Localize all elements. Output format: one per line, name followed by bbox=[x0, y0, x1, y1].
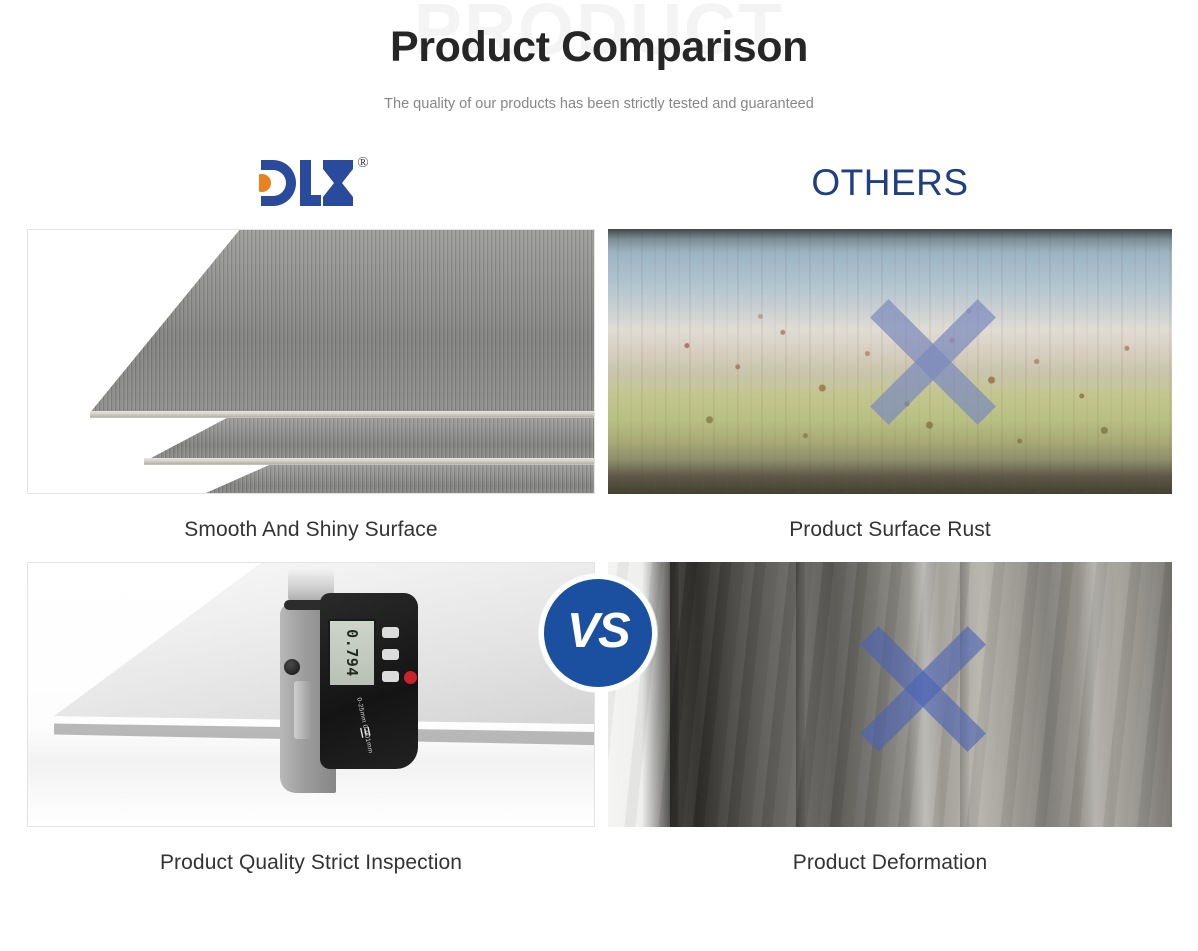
steel-photo-stage bbox=[28, 230, 594, 493]
caption-theirs: Product Deformation bbox=[608, 851, 1172, 875]
micrometer-reading: 0.794 bbox=[343, 629, 361, 677]
micrometer-button-onoff[interactable] bbox=[382, 627, 399, 638]
comparison-cell-theirs: Product Deformation bbox=[608, 562, 1172, 875]
comparison-cell-ours: Smooth And Shiny Surface bbox=[27, 229, 595, 542]
steel-sheet-bottom bbox=[193, 465, 595, 494]
micrometer-button-zero[interactable] bbox=[382, 671, 399, 682]
steel-sheet-middle bbox=[144, 418, 595, 462]
others-label: OTHERS bbox=[811, 162, 968, 204]
deform-highlight-2 bbox=[1078, 562, 1112, 827]
product-comparison-page: PRODUCT Product Comparison The quality o… bbox=[0, 0, 1198, 951]
caption-ours: Smooth And Shiny Surface bbox=[27, 518, 595, 542]
deform-seam-1 bbox=[670, 562, 679, 827]
vs-badge: VS bbox=[539, 574, 657, 692]
brand-row: ® OTHERS bbox=[0, 137, 1198, 229]
micrometer-brand-icon: 三 bbox=[350, 725, 377, 755]
comparison-grid: Smooth And Shiny Surface Product Surface… bbox=[0, 229, 1198, 895]
page-subtitle: The quality of our products has been str… bbox=[0, 96, 1198, 112]
comparison-row: Smooth And Shiny Surface Product Surface… bbox=[0, 229, 1198, 562]
deformed-metal-sheets-photo bbox=[608, 562, 1172, 827]
deform-seam-2 bbox=[796, 562, 805, 827]
dlx-logo: ® bbox=[253, 152, 368, 214]
brushed-stainless-steel-sheets-photo bbox=[27, 229, 595, 494]
micrometer-photo-stage: 0.794 0-25mm 0.001mm 三 bbox=[28, 563, 594, 826]
micrometer-thickness-measurement-photo: 0.794 0-25mm 0.001mm 三 bbox=[27, 562, 595, 827]
micrometer-head: 0.794 0-25mm 0.001mm 三 bbox=[320, 593, 418, 769]
others-brand-cell: OTHERS bbox=[608, 137, 1172, 229]
micrometer-button-unit[interactable] bbox=[382, 649, 399, 660]
caption-ours: Product Quality Strict Inspection bbox=[27, 851, 595, 875]
steel-sheet-top-edge bbox=[90, 411, 595, 418]
comparison-cell-theirs: Product Surface Rust bbox=[608, 229, 1172, 542]
caption-theirs: Product Surface Rust bbox=[608, 518, 1172, 542]
comparison-cell-ours: 0.794 0-25mm 0.001mm 三 Pro bbox=[27, 562, 595, 875]
rusted-metal-surface-photo bbox=[608, 229, 1172, 494]
steel-sheet-top bbox=[90, 229, 595, 413]
micrometer-display: 0.794 bbox=[328, 619, 376, 687]
steel-sheet-middle-edge bbox=[144, 458, 595, 465]
digital-micrometer: 0.794 0-25mm 0.001mm 三 bbox=[280, 585, 420, 807]
reject-x-icon bbox=[868, 297, 998, 427]
micrometer-button-hold[interactable] bbox=[404, 671, 417, 684]
micrometer-screw-icon bbox=[284, 659, 300, 675]
our-brand-cell: ® bbox=[27, 137, 595, 229]
registered-trademark-icon: ® bbox=[357, 156, 368, 171]
vs-label: VS bbox=[567, 607, 629, 656]
page-header: PRODUCT Product Comparison The quality o… bbox=[0, 0, 1198, 112]
dlx-logo-icon bbox=[253, 152, 355, 214]
reject-x-icon bbox=[858, 624, 988, 754]
page-title: Product Comparison bbox=[0, 22, 1198, 73]
